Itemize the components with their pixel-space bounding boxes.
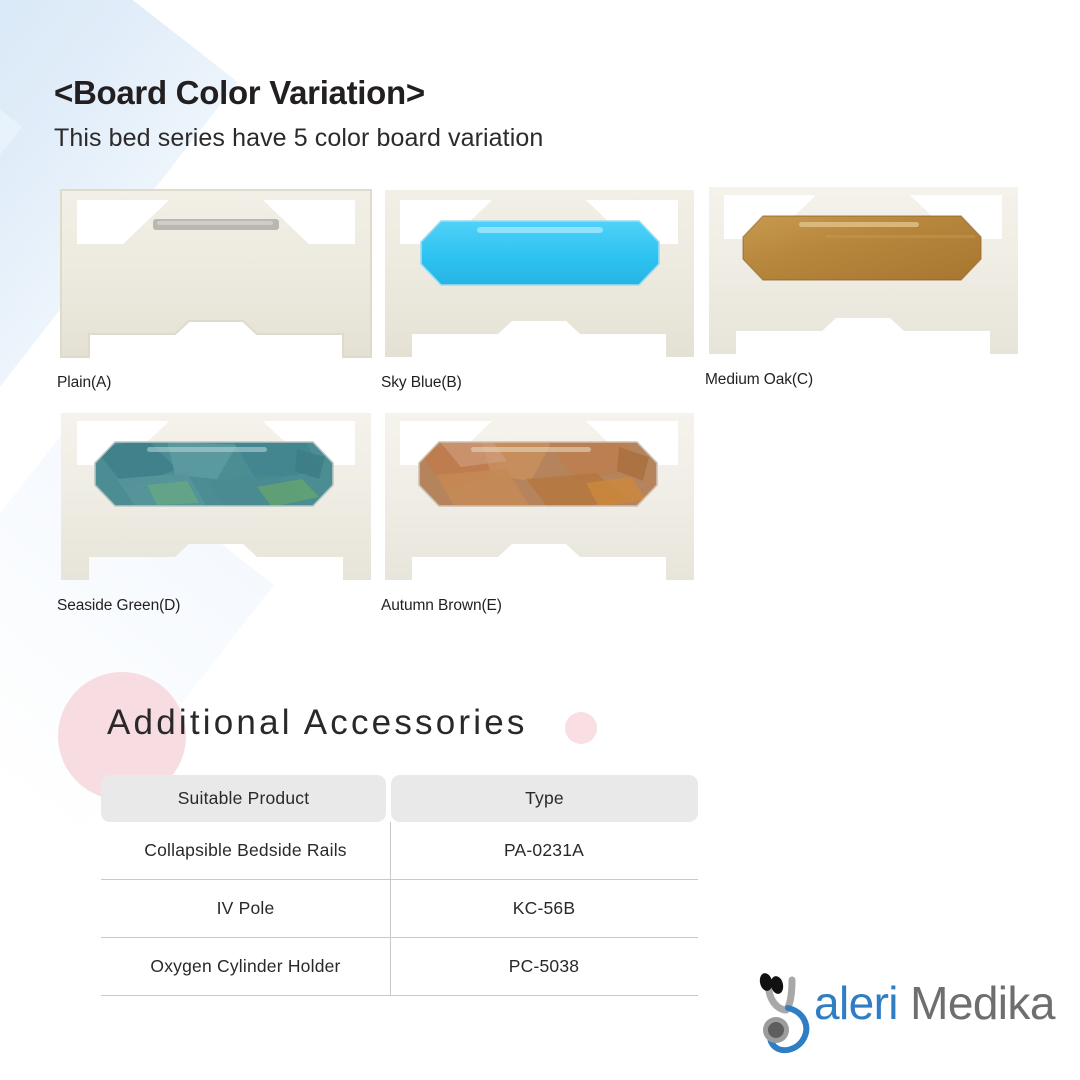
cell-product: Oxygen Cylinder Holder bbox=[101, 938, 390, 995]
headboard-illustration-plain bbox=[57, 186, 375, 361]
page-title: <Board Color Variation> bbox=[54, 74, 425, 112]
accessories-heading: Additional Accessories bbox=[107, 703, 528, 743]
cell-product: IV Pole bbox=[101, 880, 390, 937]
board-swatch-medium-oak[interactable] bbox=[705, 183, 1022, 358]
decorative-blue-band-secondary bbox=[0, 53, 22, 497]
headboard-illustration-sky-blue bbox=[381, 186, 698, 361]
board-swatch-seaside-green[interactable] bbox=[57, 409, 375, 584]
table-body: Collapsible Bedside Rails PA-0231A IV Po… bbox=[101, 822, 698, 996]
page-subtitle: This bed series have 5 color board varia… bbox=[54, 124, 543, 153]
stethoscope-icon bbox=[752, 968, 822, 1063]
board-swatch-sky-blue[interactable] bbox=[381, 186, 698, 361]
table-header-row: Suitable Product Type bbox=[101, 775, 698, 822]
brand-wordmark-secondary: Medika bbox=[898, 977, 1055, 1029]
board-label-plain: Plain(A) bbox=[57, 374, 111, 392]
column-header-type: Type bbox=[391, 775, 698, 822]
headboard-illustration-medium-oak bbox=[705, 183, 1022, 358]
headboard-illustration-seaside-green bbox=[57, 409, 375, 584]
headboard-illustration-autumn-brown bbox=[381, 409, 698, 584]
accessories-table: Suitable Product Type Collapsible Bedsid… bbox=[101, 775, 698, 996]
cell-type: PC-5038 bbox=[390, 938, 698, 995]
cell-type: KC-56B bbox=[390, 880, 698, 937]
column-header-suitable-product: Suitable Product bbox=[101, 775, 386, 822]
board-label-autumn-brown: Autumn Brown(E) bbox=[381, 597, 502, 615]
product-spec-page: <Board Color Variation> This bed series … bbox=[0, 0, 1080, 1080]
brand-wordmark-primary: aleri bbox=[814, 977, 898, 1029]
table-row: Oxygen Cylinder Holder PC-5038 bbox=[101, 938, 698, 996]
board-label-seaside-green: Seaside Green(D) bbox=[57, 597, 180, 615]
table-column-divider bbox=[390, 822, 391, 996]
brand-logo: aleri Medika bbox=[752, 968, 1042, 1063]
board-label-medium-oak: Medium Oak(C) bbox=[705, 371, 813, 389]
board-swatch-autumn-brown[interactable] bbox=[381, 409, 698, 584]
cell-type: PA-0231A bbox=[390, 822, 698, 879]
board-swatch-plain[interactable] bbox=[57, 186, 375, 361]
table-row: IV Pole KC-56B bbox=[101, 880, 698, 938]
table-row: Collapsible Bedside Rails PA-0231A bbox=[101, 822, 698, 880]
cell-product: Collapsible Bedside Rails bbox=[101, 822, 390, 879]
brand-wordmark: aleri Medika bbox=[814, 976, 1055, 1030]
board-label-sky-blue: Sky Blue(B) bbox=[381, 374, 462, 392]
decorative-pink-dot bbox=[565, 712, 597, 744]
